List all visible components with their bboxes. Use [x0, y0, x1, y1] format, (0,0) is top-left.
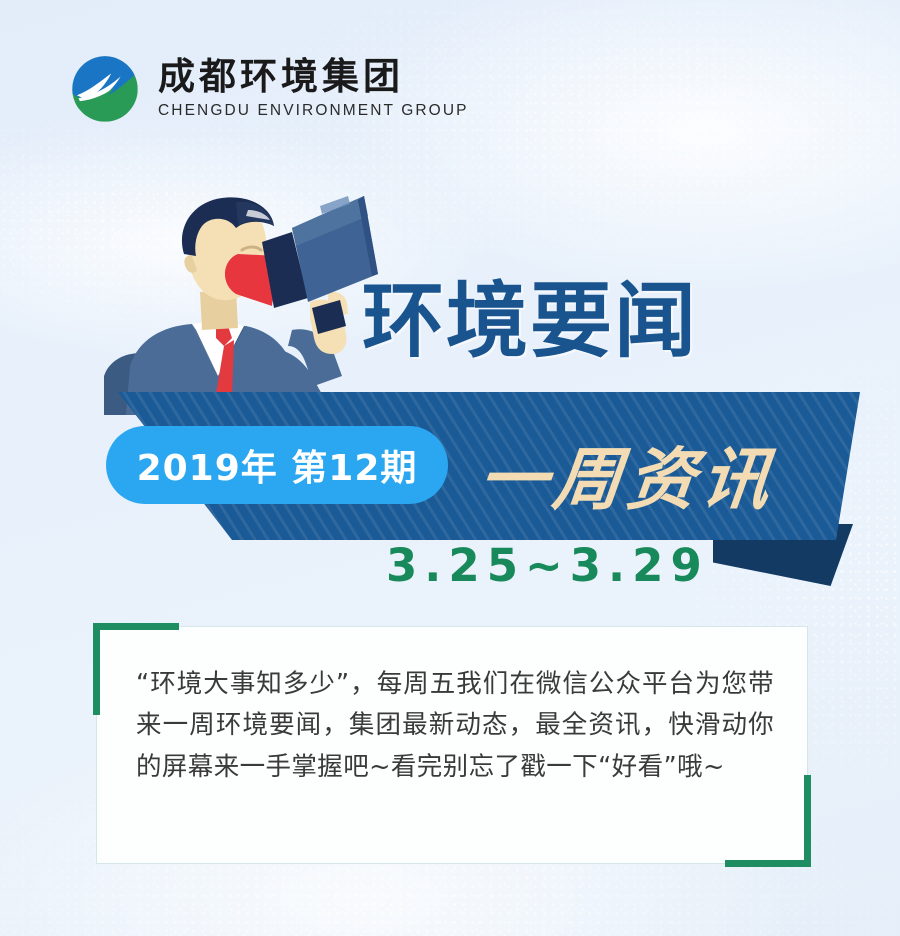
- circular-bird-leaf-logo-icon: [66, 50, 144, 128]
- intro-card: “环境大事知多少”，每周五我们在微信公众平台为您带来一周环境要闻，集团最新动态，…: [96, 626, 808, 864]
- card-accent-top-left-vertical: [93, 623, 100, 715]
- weekly-news-script-title: 一周资讯: [475, 424, 781, 523]
- card-accent-bottom-right-vertical: [804, 775, 811, 867]
- issue-badge-label: 2019年 第12期: [137, 439, 418, 491]
- intro-card-body-text: “环境大事知多少”，每周五我们在微信公众平台为您带来一周环境要闻，集团最新动态，…: [136, 664, 774, 788]
- poster-canvas: 成都环境集团 CHENGDU ENVIRONMENT GROUP: [0, 0, 900, 936]
- brand-logo-row: 成都环境集团 CHENGDU ENVIRONMENT GROUP: [66, 50, 469, 128]
- date-range-label: 3.25~3.29: [386, 539, 709, 592]
- card-accent-bottom-right-horizontal: [725, 860, 809, 867]
- brand-name-en: CHENGDU ENVIRONMENT GROUP: [158, 102, 469, 120]
- page-title: 环境要闻: [362, 281, 698, 363]
- issue-badge: 2019年 第12期: [106, 426, 448, 504]
- brand-lockup-text: 成都环境集团 CHENGDU ENVIRONMENT GROUP: [158, 58, 469, 120]
- brand-name-cn: 成都环境集团: [158, 58, 469, 97]
- businessman-with-megaphone-illustration: [96, 180, 396, 415]
- card-accent-top-left-horizontal: [95, 623, 179, 630]
